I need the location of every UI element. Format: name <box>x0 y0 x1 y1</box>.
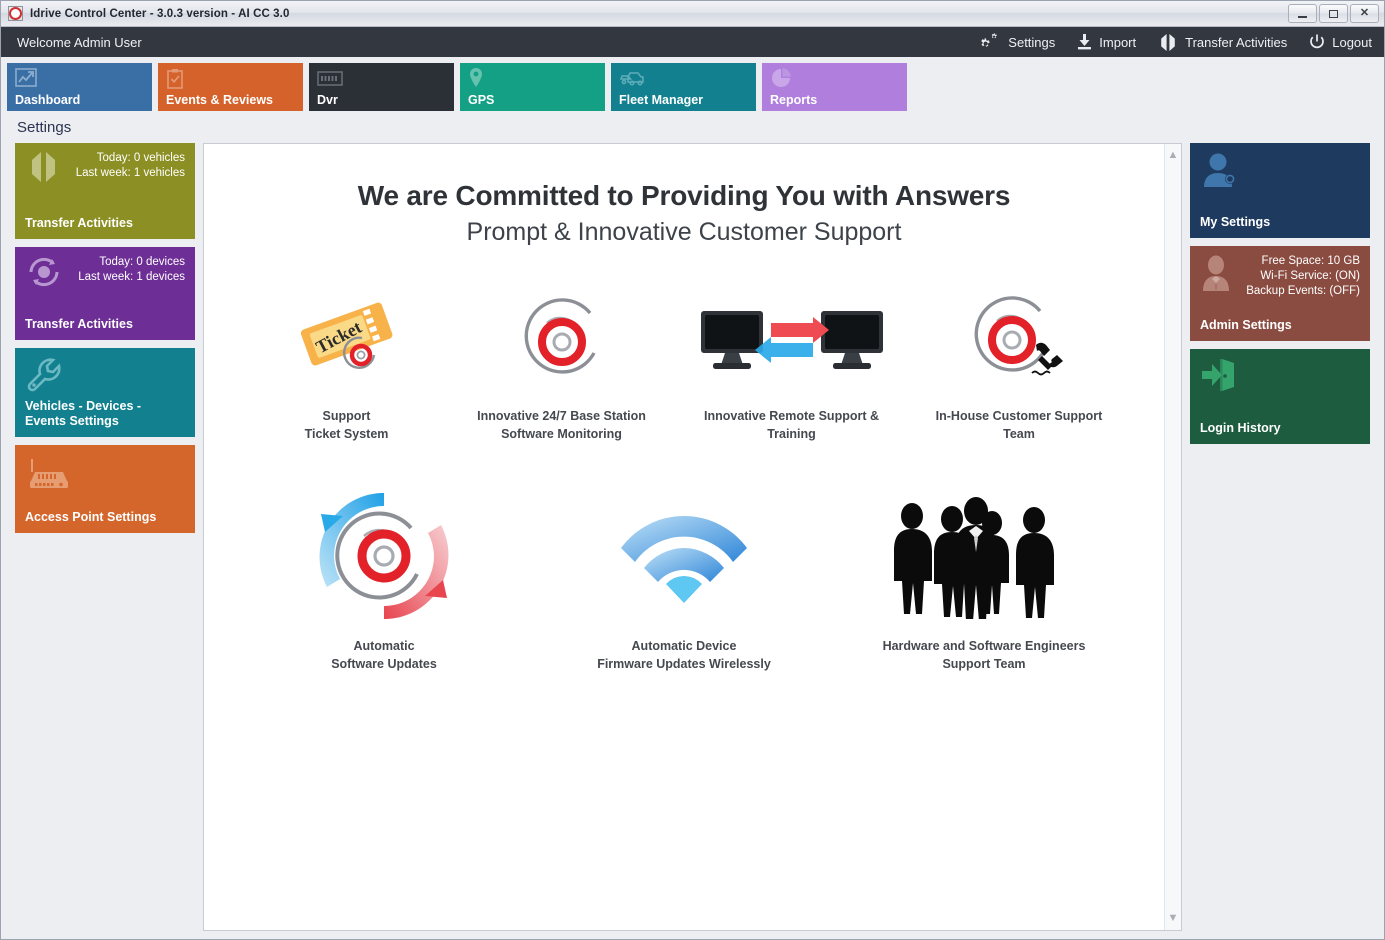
wrench-icon <box>25 356 65 399</box>
content-panel: We are Committed to Providing You with A… <box>203 143 1182 931</box>
feature-row: Automatic Software Updates <box>224 491 1144 673</box>
tile-label: Login History <box>1200 421 1360 436</box>
scrollbar-track[interactable] <box>1173 161 1174 913</box>
feature-in-house-support-team: In-House Customer Support Team <box>912 291 1127 443</box>
header-transfer-label: Transfer Activities <box>1185 36 1287 49</box>
caption-line: Training <box>704 425 879 443</box>
tab-dvr-label: Dvr <box>317 93 338 107</box>
caption-line: Automatic <box>331 637 437 655</box>
feature-caption: Innovative Remote Support & Training <box>704 407 879 443</box>
target-refresh-arrows-icon <box>289 491 479 621</box>
close-icon: ✕ <box>1360 8 1369 19</box>
caption-line: Firmware Updates Wirelessly <box>597 655 771 673</box>
tile-stat-line: Backup Events: (OFF) <box>1246 284 1360 299</box>
feature-caption: Automatic Device Firmware Updates Wirele… <box>597 637 771 673</box>
feature-base-station-monitoring: Innovative 24/7 Base Station Software Mo… <box>452 291 672 443</box>
tile-vehicles-devices-events-settings[interactable]: Vehicles - Devices - Events Settings <box>15 348 195 437</box>
tile-transfer-activities-devices[interactable]: Today: 0 devices Last week: 1 devices Tr… <box>15 247 195 340</box>
header-settings-label: Settings <box>1008 36 1055 49</box>
feature-hardware-software-engineers: Hardware and Software Engineers Support … <box>834 491 1134 673</box>
transfer-arrows-icon <box>25 151 63 188</box>
transfer-arrows-icon <box>1158 34 1178 51</box>
tile-stats: Today: 0 vehicles Last week: 1 vehicles <box>76 151 185 181</box>
maximize-button[interactable] <box>1319 4 1348 23</box>
dvr-device-icon <box>317 67 454 89</box>
title-bar: Idrive Control Center - 3.0.3 version - … <box>1 1 1384 27</box>
content-scroll-area: We are Committed to Providing You with A… <box>204 144 1164 930</box>
power-icon <box>1309 34 1325 50</box>
feature-caption: Support Ticket System <box>305 407 389 443</box>
right-sidebar: My Settings Free Space: 10 GB Wi <box>1190 143 1370 931</box>
tile-stat-line: Today: 0 devices <box>78 255 185 270</box>
feature-automatic-firmware-updates: Automatic Device Firmware Updates Wirele… <box>534 491 834 673</box>
page-title: We are Committed to Providing You with A… <box>224 180 1144 212</box>
ticket-target-icon: Ticket <box>292 291 402 391</box>
caption-line: In-House Customer Support <box>936 407 1103 425</box>
feature-caption: Hardware and Software Engineers Support … <box>883 637 1086 673</box>
tab-events-reviews-label: Events & Reviews <box>166 93 273 107</box>
main-body: Today: 0 vehicles Last week: 1 vehicles … <box>1 143 1384 939</box>
team-silhouettes-icon <box>884 491 1084 621</box>
tile-stat-line: Last week: 1 devices <box>78 270 185 285</box>
device-sync-icon <box>25 255 63 294</box>
tab-strip: Dashboard Events & Reviews Dvr GPS Fleet <box>1 57 1384 111</box>
tile-access-point-settings[interactable]: Access Point Settings <box>15 445 195 533</box>
tab-reports-label: Reports <box>770 93 817 107</box>
tab-dashboard-label: Dashboard <box>15 93 80 107</box>
scroll-up-icon[interactable]: ▲ <box>1168 150 1179 161</box>
caption-line: Innovative Remote Support & <box>704 407 879 425</box>
minimize-button[interactable] <box>1288 4 1317 23</box>
admin-user-icon <box>1200 254 1236 297</box>
map-pin-icon <box>468 67 605 89</box>
scroll-down-icon[interactable]: ▼ <box>1168 913 1179 924</box>
target-logo-icon <box>512 291 612 391</box>
tab-dvr[interactable]: Dvr <box>309 63 454 111</box>
application-window: Idrive Control Center - 3.0.3 version - … <box>0 0 1385 940</box>
tile-stat-line: Free Space: 10 GB <box>1246 254 1360 269</box>
tile-stat-line: Today: 0 vehicles <box>76 151 185 166</box>
wifi-signal-icon <box>604 491 764 621</box>
feature-remote-support-training: Innovative Remote Support & Training <box>672 291 912 443</box>
tile-transfer-activities-vehicles[interactable]: Today: 0 vehicles Last week: 1 vehicles … <box>15 143 195 239</box>
header-logout-label: Logout <box>1332 36 1372 49</box>
header-import-button[interactable]: Import <box>1077 34 1136 50</box>
tile-label: Admin Settings <box>1200 318 1360 333</box>
caption-line: Ticket System <box>305 425 389 443</box>
clipboard-check-icon <box>166 67 303 89</box>
user-gear-icon <box>1200 151 1240 194</box>
left-sidebar: Today: 0 vehicles Last week: 1 vehicles … <box>15 143 195 931</box>
tile-stat-line: Last week: 1 vehicles <box>76 166 185 181</box>
tile-label: Transfer Activities <box>25 216 185 231</box>
tile-label: Access Point Settings <box>25 510 185 525</box>
tile-stats: Today: 0 devices Last week: 1 devices <box>78 255 185 285</box>
target-phone-icon <box>964 291 1074 391</box>
tile-my-settings[interactable]: My Settings <box>1190 143 1370 238</box>
app-icon <box>8 6 23 21</box>
tab-dashboard[interactable]: Dashboard <box>7 63 152 111</box>
feature-caption: Innovative 24/7 Base Station Software Mo… <box>477 407 646 443</box>
caption-line: Team <box>936 425 1103 443</box>
header-bar: Welcome Admin User Settings <box>1 27 1384 57</box>
header-transfer-activities-button[interactable]: Transfer Activities <box>1158 34 1287 51</box>
tab-fleet-manager[interactable]: Fleet Manager <box>611 63 756 111</box>
tab-gps-label: GPS <box>468 93 494 107</box>
caption-line: Software Monitoring <box>477 425 646 443</box>
tile-login-history[interactable]: Login History <box>1190 349 1370 444</box>
dual-monitors-arrows-icon <box>697 291 887 391</box>
feature-automatic-software-updates: Automatic Software Updates <box>234 491 534 673</box>
header-import-label: Import <box>1099 36 1136 49</box>
feature-caption: In-House Customer Support Team <box>936 407 1103 443</box>
caption-line: Support <box>305 407 389 425</box>
header-menu: Settings Import Transf <box>979 33 1372 51</box>
tab-gps[interactable]: GPS <box>460 63 605 111</box>
close-button[interactable]: ✕ <box>1350 4 1379 23</box>
tile-label: My Settings <box>1200 215 1360 230</box>
page-subtitle: Prompt & Innovative Customer Support <box>224 218 1144 247</box>
caption-line: Innovative 24/7 Base Station <box>477 407 646 425</box>
feature-caption: Automatic Software Updates <box>331 637 437 673</box>
welcome-message: Welcome Admin User <box>17 35 142 50</box>
tile-label: Transfer Activities <box>25 317 185 332</box>
download-icon <box>1077 34 1092 50</box>
pie-chart-icon <box>770 67 907 89</box>
login-door-icon <box>1200 357 1240 398</box>
breadcrumb: Settings <box>1 111 1384 143</box>
chart-trend-icon <box>15 67 152 89</box>
tab-events-reviews[interactable]: Events & Reviews <box>158 63 303 111</box>
vehicles-icon <box>619 67 756 89</box>
content-scrollbar[interactable]: ▲ ▼ <box>1164 144 1181 930</box>
caption-line: Hardware and Software Engineers <box>883 637 1086 655</box>
feature-grid: Ticket Support <box>224 291 1144 673</box>
gears-icon <box>979 33 1001 51</box>
feature-row: Ticket Support <box>224 291 1144 443</box>
header-settings-button[interactable]: Settings <box>979 33 1055 51</box>
tile-label: Vehicles - Devices - Events Settings <box>25 399 185 429</box>
caption-line: Support Team <box>883 655 1086 673</box>
tile-admin-settings[interactable]: Free Space: 10 GB Wi-Fi Service: (ON) Ba… <box>1190 246 1370 341</box>
window-title: Idrive Control Center - 3.0.3 version - … <box>30 8 289 20</box>
tab-reports[interactable]: Reports <box>762 63 907 111</box>
feature-support-ticket-system: Ticket Support <box>242 291 452 443</box>
caption-line: Software Updates <box>331 655 437 673</box>
tile-stat-line: Wi-Fi Service: (ON) <box>1246 269 1360 284</box>
router-icon <box>25 453 71 498</box>
header-logout-button[interactable]: Logout <box>1309 34 1372 50</box>
tile-stats: Free Space: 10 GB Wi-Fi Service: (ON) Ba… <box>1246 254 1360 299</box>
window-controls: ✕ <box>1288 4 1382 23</box>
tab-fleet-manager-label: Fleet Manager <box>619 93 703 107</box>
caption-line: Automatic Device <box>597 637 771 655</box>
